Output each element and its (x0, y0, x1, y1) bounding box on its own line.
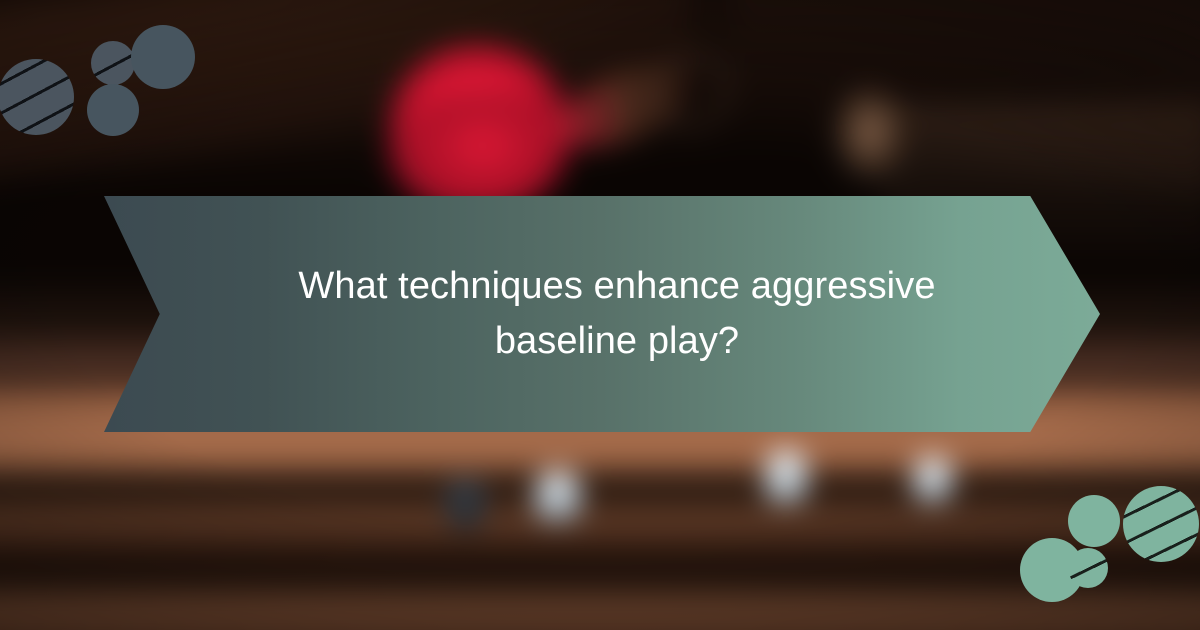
question-banner: What techniques enhance aggressive basel… (104, 196, 1100, 432)
banner-canvas: What techniques enhance aggressive basel… (0, 0, 1200, 630)
circle-solid-large (131, 25, 195, 89)
circle-solid-small (1068, 495, 1120, 547)
question-heading: What techniques enhance aggressive basel… (287, 259, 947, 369)
circle-striped-large (0, 59, 74, 135)
circle-striped-small (91, 41, 135, 85)
circle-striped-large (1123, 486, 1199, 562)
circle-solid-small (87, 84, 139, 136)
circle-striped-small (1068, 548, 1108, 588)
